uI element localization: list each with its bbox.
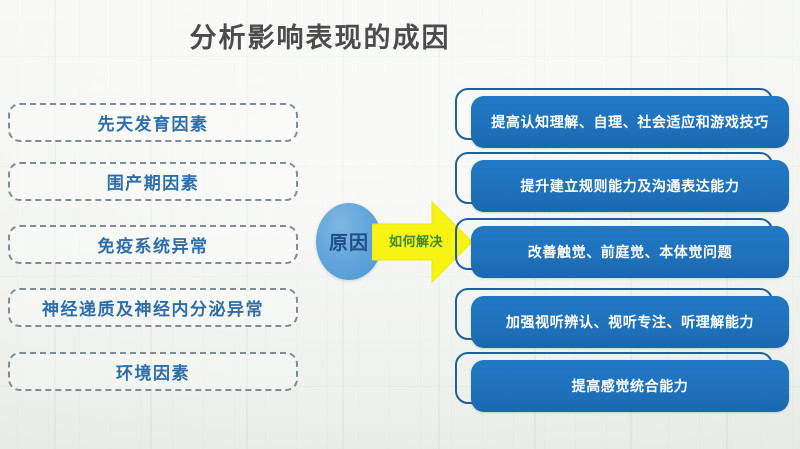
cause-box-4[interactable]: 环境因素: [8, 352, 298, 391]
solution-box-2[interactable]: 改善触觉、前庭觉、本体觉问题: [455, 218, 790, 280]
solution-fill-1: 提升建立规则能力及沟通表达能力: [471, 160, 789, 212]
solution-label-2: 改善触觉、前庭觉、本体觉问题: [528, 242, 732, 262]
solution-label-1: 提升建立规则能力及沟通表达能力: [521, 176, 740, 196]
cause-box-2[interactable]: 免疫系统异常: [8, 225, 298, 264]
solution-fill-0: 提高认知理解、自理、社会适应和游戏技巧: [471, 96, 789, 148]
solution-fill-2: 改善触觉、前庭觉、本体觉问题: [471, 226, 789, 278]
cause-label-1: 围产期因素: [107, 169, 200, 194]
cause-label-4: 环境因素: [116, 359, 190, 384]
cause-box-1[interactable]: 围产期因素: [8, 162, 298, 201]
cause-label-0: 先天发育因素: [98, 110, 209, 135]
solution-label-0: 提高认知理解、自理、社会适应和游戏技巧: [491, 112, 768, 132]
cause-box-3[interactable]: 神经递质及神经内分泌异常: [8, 288, 298, 327]
solution-label-4: 提高感觉统合能力: [572, 376, 689, 396]
slide-canvas: 分析影响表现的成因 先天发育因素 围产期因素 免疫系统异常 神经递质及神经内分泌…: [0, 0, 800, 449]
cause-hub-label: 原因: [329, 228, 369, 255]
page-title: 分析影响表现的成因: [175, 16, 465, 55]
cause-label-3: 神经递质及神经内分泌异常: [42, 295, 264, 320]
solution-box-1[interactable]: 提升建立规则能力及沟通表达能力: [455, 152, 790, 214]
solution-box-0[interactable]: 提高认知理解、自理、社会适应和游戏技巧: [455, 88, 790, 150]
solution-label-3: 加强视听辨认、视听专注、听理解能力: [506, 312, 754, 332]
solution-box-4[interactable]: 提高感觉统合能力: [455, 352, 790, 414]
cause-label-2: 免疫系统异常: [98, 232, 209, 257]
solution-fill-4: 提高感觉统合能力: [471, 360, 789, 412]
solution-box-3[interactable]: 加强视听辨认、视听专注、听理解能力: [455, 288, 790, 350]
solve-arrow-label: 如何解决: [378, 231, 454, 250]
solution-fill-3: 加强视听辨认、视听专注、听理解能力: [471, 296, 789, 348]
cause-box-0[interactable]: 先天发育因素: [8, 103, 298, 142]
